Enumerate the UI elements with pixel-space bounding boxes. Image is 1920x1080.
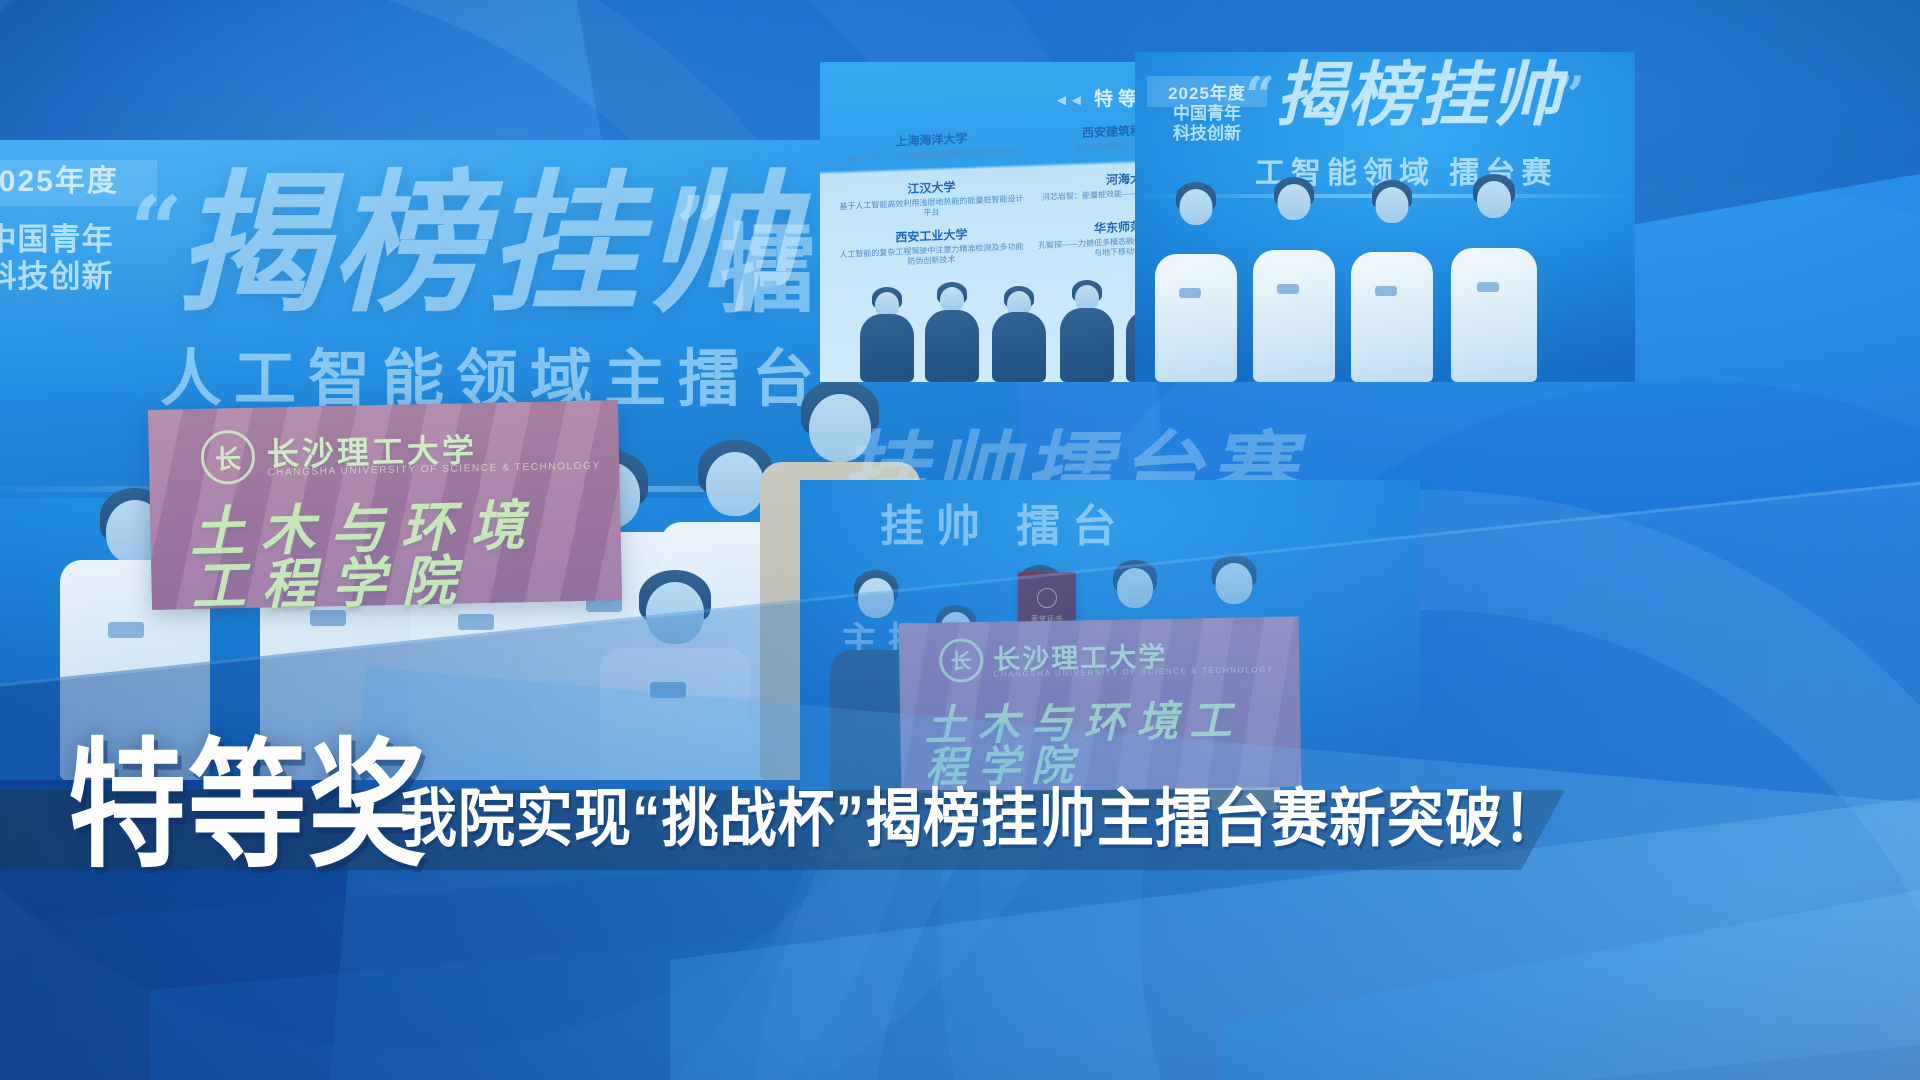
vignette-overlay <box>0 0 1920 1080</box>
promotional-banner: 2025年度 中国青年 科技创新 “ 揭榜挂帅 ” 擂台赛 人工智能领域主擂台 <box>0 0 1920 1080</box>
caption-headline: 我院实现“挑战杯”揭榜挂帅主擂台赛新突破！ <box>400 788 1561 852</box>
award-label: 特等奖 <box>68 737 428 876</box>
